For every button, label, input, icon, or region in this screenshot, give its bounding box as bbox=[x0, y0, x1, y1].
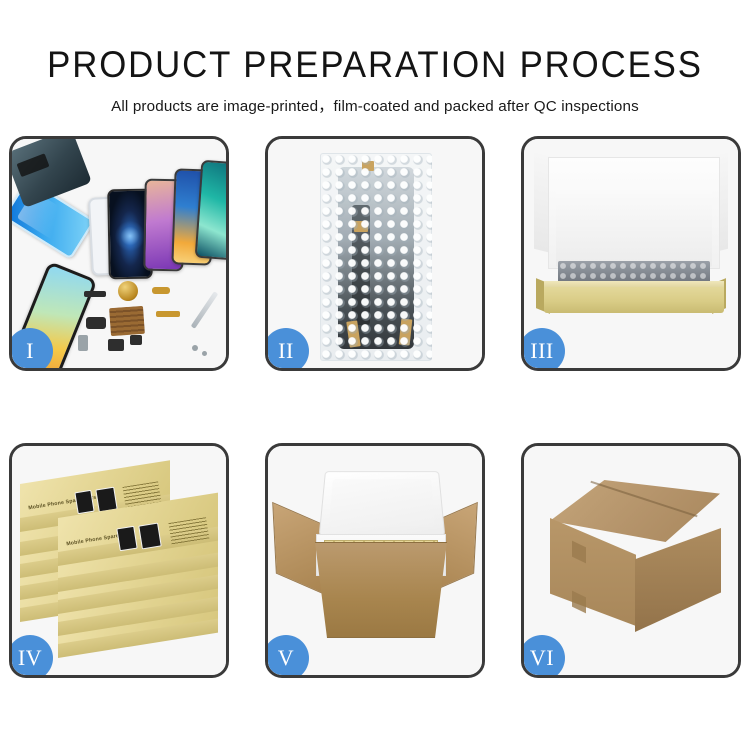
box-stack: Mobile Phone Spare Parts bbox=[20, 468, 224, 658]
camera-module bbox=[86, 317, 106, 329]
sealed-carton bbox=[542, 480, 728, 632]
gold-component-icon bbox=[118, 281, 138, 301]
screw-part bbox=[192, 345, 198, 351]
vibration-motor bbox=[130, 335, 142, 345]
tweezers-icon bbox=[191, 291, 219, 329]
step-4-image: Mobile Phone Spare Parts bbox=[12, 446, 226, 675]
screw-part bbox=[202, 351, 207, 356]
step-3-image: III bbox=[524, 139, 738, 368]
step-panel-5: V bbox=[265, 443, 485, 678]
page-subtitle: All products are image-printed，film-coat… bbox=[0, 99, 750, 114]
step-panel-1: I bbox=[9, 136, 229, 371]
step-5-image: V bbox=[268, 446, 482, 675]
header: PRODUCT PREPARATION PROCESS All products… bbox=[0, 0, 750, 114]
step-2-image: II bbox=[268, 139, 482, 368]
step-6-image: VI bbox=[524, 446, 738, 675]
carton-right-face bbox=[635, 528, 721, 632]
process-steps-grid: I II bbox=[9, 136, 741, 678]
bubble-texture bbox=[320, 153, 432, 361]
carton-body bbox=[306, 542, 456, 638]
circuit-board bbox=[109, 306, 145, 336]
box-screen-image bbox=[116, 526, 137, 552]
box-front-panel bbox=[544, 287, 724, 313]
bubble-bag bbox=[320, 153, 432, 361]
chip-part bbox=[84, 291, 106, 297]
box-screen-image bbox=[138, 523, 162, 550]
step-panel-4: Mobile Phone Spare Parts bbox=[9, 443, 229, 678]
flex-connector bbox=[152, 287, 170, 294]
foam-sheet bbox=[556, 191, 712, 267]
foam-lid bbox=[319, 471, 446, 536]
flex-cable bbox=[156, 311, 180, 317]
step-panel-6: VI bbox=[521, 443, 741, 678]
step-1-image: I bbox=[12, 139, 226, 368]
page-title: PRODUCT PREPARATION PROCESS bbox=[23, 46, 728, 83]
sim-tray bbox=[78, 335, 88, 351]
speaker-module bbox=[108, 339, 124, 351]
step-panel-2: II bbox=[265, 136, 485, 371]
product-preparation-infographic: PRODUCT PREPARATION PROCESS All products… bbox=[0, 0, 750, 750]
step-panel-3: III bbox=[521, 136, 741, 371]
box-screen-image bbox=[74, 490, 94, 514]
